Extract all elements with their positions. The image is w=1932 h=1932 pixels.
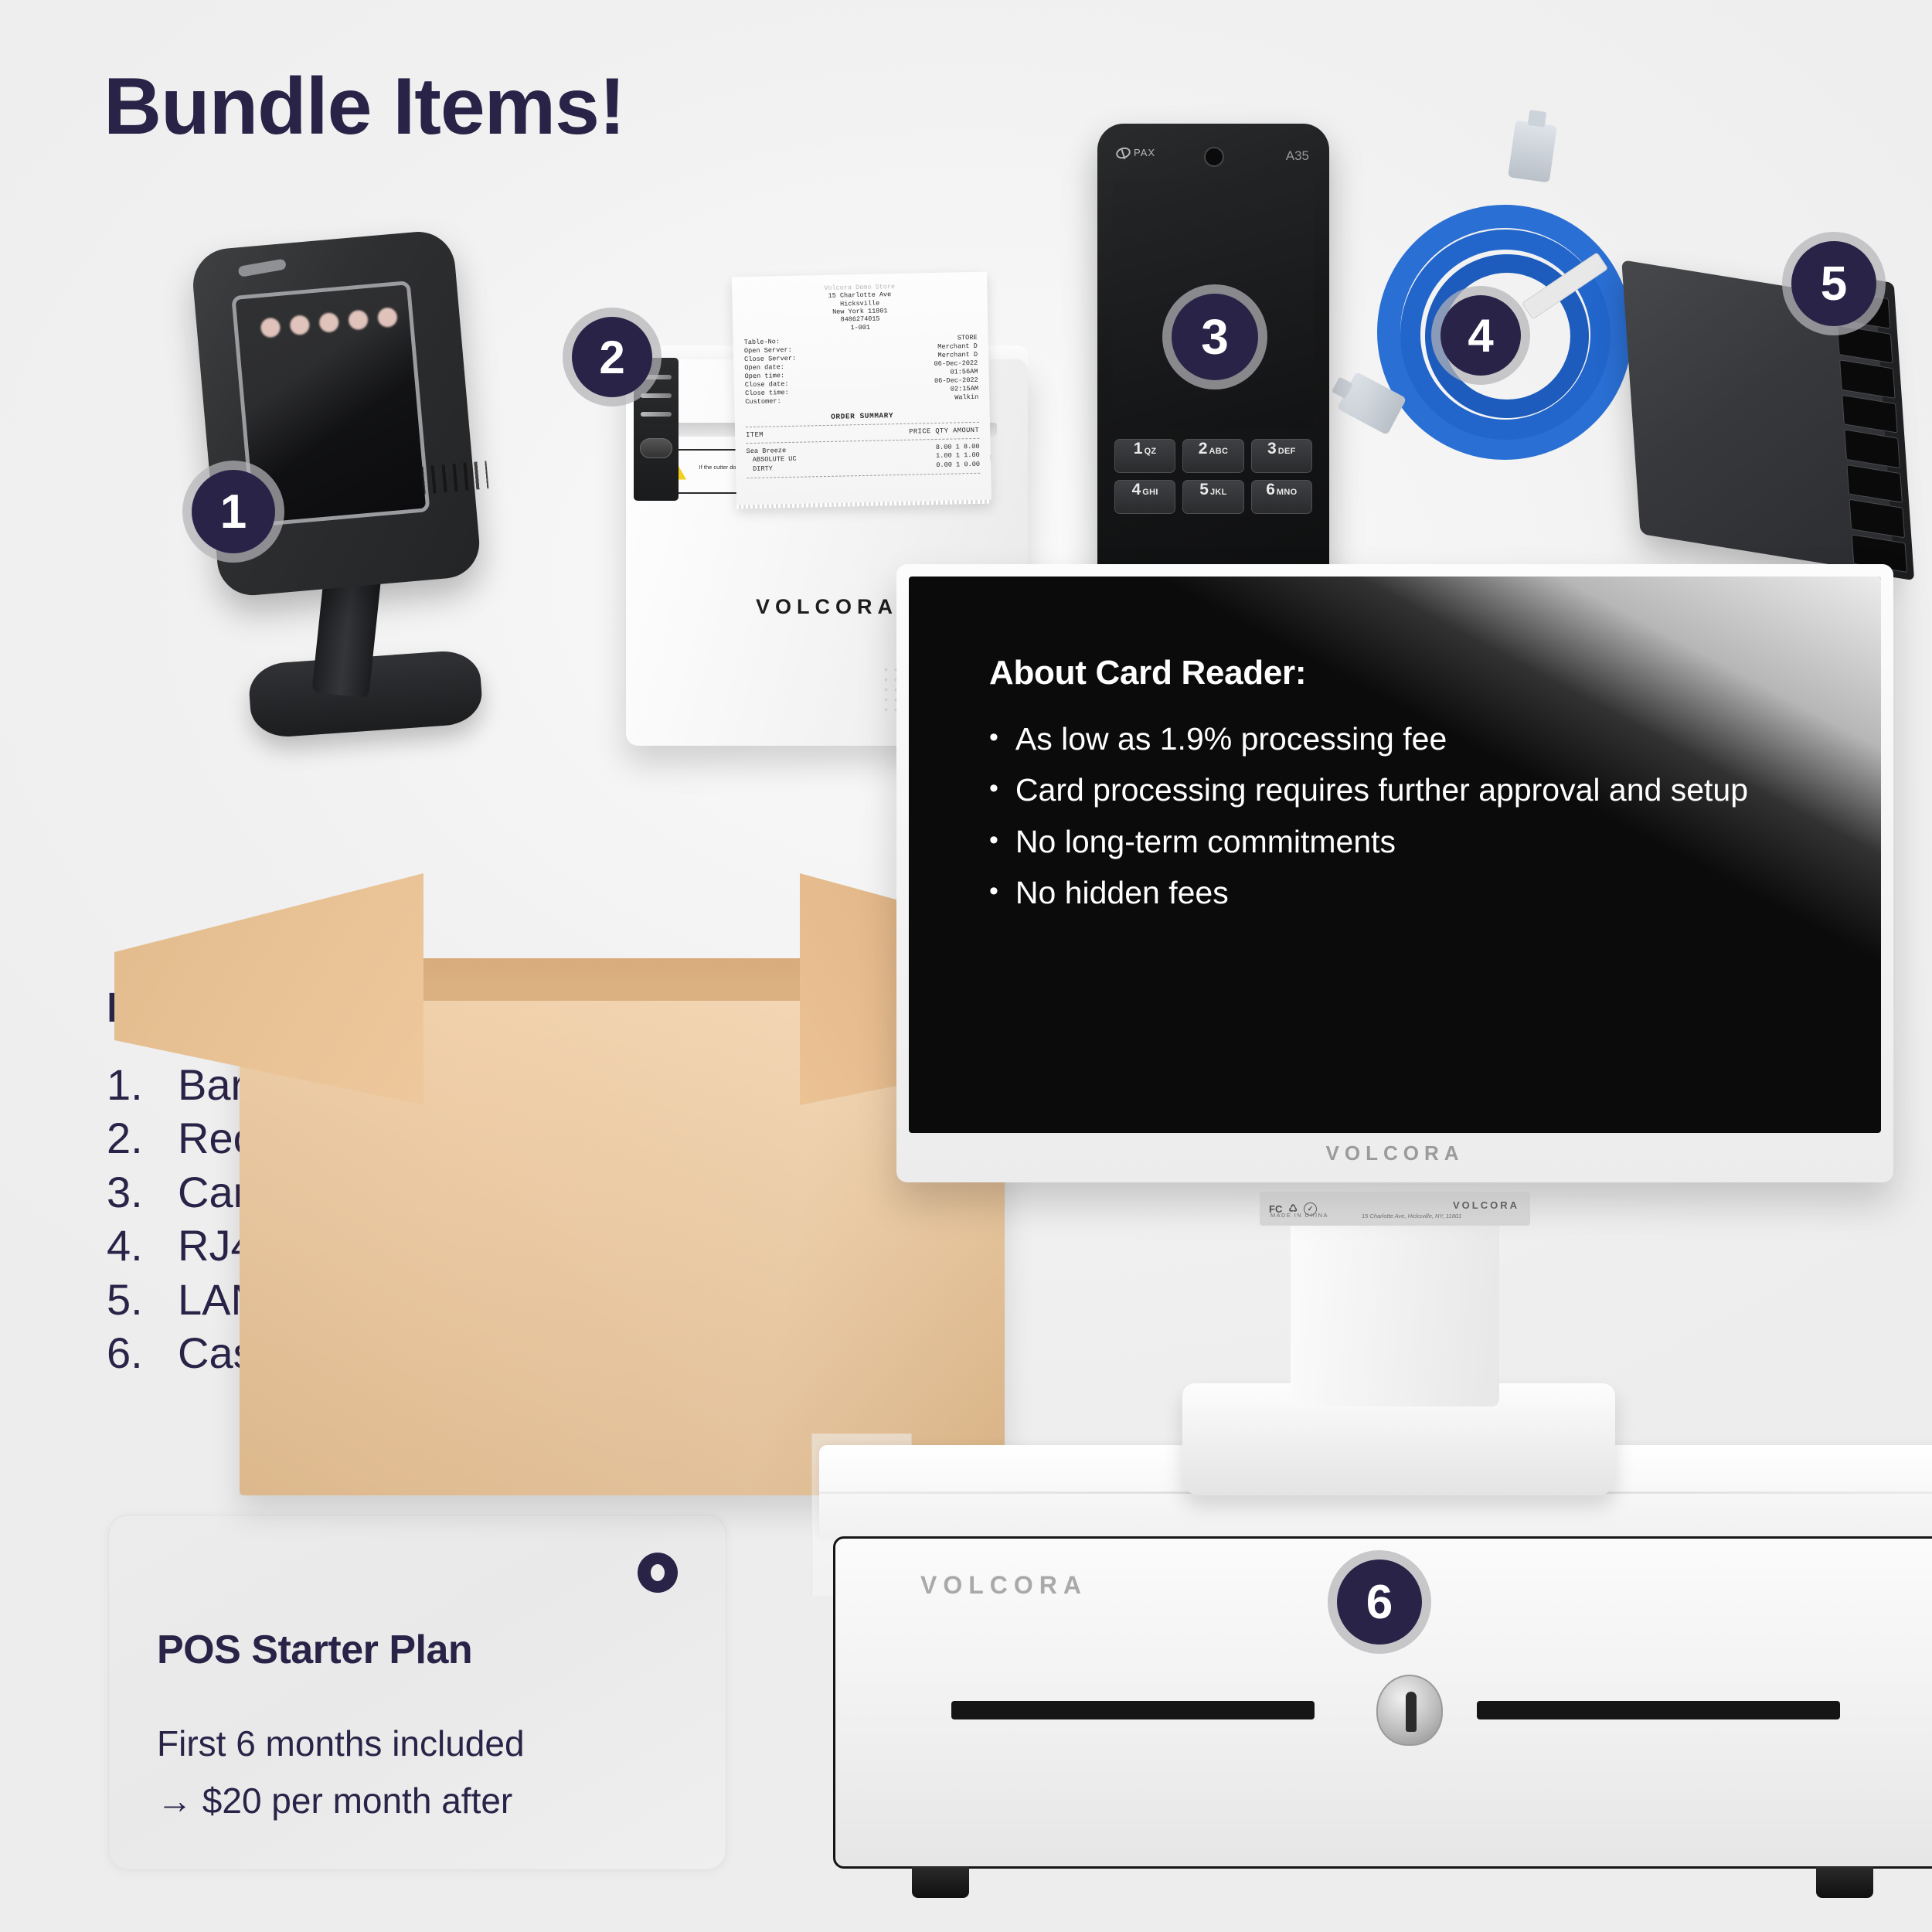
card-reader-camera-icon (1204, 147, 1224, 167)
receipt-field-value: 01:56AM (950, 368, 978, 377)
lan-port (1839, 359, 1896, 398)
company-address-text: 15 Charlotte Ave, Hicksville, NY, 11801 (1362, 1213, 1461, 1219)
rj45-connector (1508, 121, 1557, 183)
pos-starter-plan-card[interactable]: POS Starter Plan First 6 months included… (108, 1515, 726, 1870)
page-title: Bundle Items! (104, 66, 625, 147)
screen-bullet-item: •As low as 1.9% processing fee (989, 719, 1835, 759)
receipt-field-value: 02:15AM (951, 385, 978, 394)
badge-3-card-reader[interactable]: 3 (1172, 294, 1258, 380)
plan-line-1: First 6 months included (157, 1723, 525, 1764)
receipt-field-key: Customer: (745, 397, 781, 406)
pax-wordmark: PAX (1134, 147, 1155, 158)
printer-led-error (641, 393, 672, 398)
keypad-key-6[interactable]: 6MNO (1251, 480, 1312, 514)
receipt-field-value: STORE (957, 334, 978, 343)
plan-title: POS Starter Plan (157, 1627, 472, 1673)
keypad-key-1[interactable]: 1QZ (1114, 439, 1175, 473)
cash-drawer-handle-slot (1477, 1701, 1840, 1719)
printer-feed-button[interactable] (640, 438, 672, 458)
badge-1-barcode-scanner[interactable]: 1 (192, 470, 275, 553)
cash-drawer-foot (912, 1867, 969, 1898)
screen-heading: About Card Reader: (989, 654, 1835, 692)
printed-receipt: Volcora Demo Store 15 Charlotte Ave Hick… (732, 272, 992, 509)
scanner-vents (420, 461, 489, 494)
screen-bullet-item: •No long-term commitments (989, 821, 1835, 862)
lan-port (1846, 464, 1903, 503)
card-reader-keypad[interactable]: 1QZ 2ABC 3DEF 4GHI 5JKL 6MNO (1114, 439, 1312, 514)
screen-content: About Card Reader: •As low as 1.9% proce… (989, 654, 1835, 924)
keypad-key-2[interactable]: 2ABC (1182, 439, 1243, 473)
badge-2-receipt-printer[interactable]: 2 (572, 317, 652, 397)
keypad-key-3[interactable]: 3DEF (1251, 439, 1312, 473)
receipt-table-header: ITEM PRICE QTY AMOUNT (746, 427, 979, 439)
lan-port (1842, 394, 1898, 433)
bullet-dot-icon: • (989, 872, 998, 913)
receipt-field-value: Walkin (954, 393, 978, 403)
cash-drawer: VOLCORA (819, 1445, 1932, 1924)
badge-4-rj45-cable[interactable]: 4 (1440, 295, 1521, 376)
monitor-brand-logo: VOLCORA (896, 1141, 1893, 1165)
screen-bullet-list: •As low as 1.9% processing fee •Card pro… (989, 719, 1835, 913)
keypad-key-5[interactable]: 5JKL (1182, 480, 1243, 514)
badge-5-lan-switch[interactable]: 5 (1791, 241, 1876, 326)
poster-canvas: Bundle Items! Volcora Demo Store 15 Char… (0, 0, 1932, 1932)
keypad-key-4[interactable]: 4GHI (1114, 480, 1175, 514)
bullet-dot-icon: • (989, 770, 998, 810)
label-brand: VOLCORA (1453, 1199, 1519, 1211)
monitor-stand-neck (1291, 1213, 1499, 1406)
receipt-field-key: Close time: (745, 389, 789, 398)
pax-mark-icon (1114, 145, 1131, 160)
printer-led-paper (641, 412, 672, 417)
lan-port (1849, 499, 1906, 538)
screen-bullet-item: •No hidden fees (989, 872, 1835, 913)
receipt-summary-title: ORDER SUMMARY (746, 410, 979, 423)
cash-drawer-foot (1816, 1867, 1873, 1898)
scanner-button (237, 258, 286, 277)
monitor-bezel: About Card Reader: •As low as 1.9% proce… (896, 564, 1893, 1182)
cash-drawer-lock-icon[interactable] (1376, 1675, 1443, 1746)
monitor-screen[interactable]: About Card Reader: •As low as 1.9% proce… (909, 577, 1881, 1133)
cash-drawer-handle-slot (951, 1701, 1315, 1719)
record-dot-icon (638, 1553, 678, 1593)
bullet-dot-icon: • (989, 719, 998, 759)
bullet-dot-icon: • (989, 821, 998, 862)
receipt-col-item: ITEM (746, 431, 764, 439)
receipt-divider (747, 472, 980, 478)
box-left-flap (114, 873, 423, 1105)
card-reader-top-bar: PAX A35 (1097, 138, 1329, 175)
receipt-field-key: Close Server: (744, 355, 796, 364)
badge-6-cash-drawer[interactable]: 6 (1337, 1560, 1422, 1645)
cash-drawer-brand-logo: VOLCORA (920, 1571, 1087, 1600)
monitor-certification-label: FC ♺ ✓ MADE IN CHINA 15 Charlotte Ave, H… (1260, 1192, 1530, 1226)
made-in-text: MADE IN CHINA (1270, 1212, 1328, 1219)
cardboard-box (139, 726, 1005, 1546)
card-reader-model: A35 (1286, 148, 1309, 164)
lan-port (1844, 429, 1900, 468)
plan-line-2: → $20 per month after (157, 1780, 512, 1821)
receipt-col-price-qty-amount: PRICE QTY AMOUNT (909, 427, 979, 436)
screen-bullet-item: •Card processing requires further approv… (989, 770, 1835, 810)
pax-logo-icon: PAX (1116, 147, 1155, 158)
pos-monitor: FC ♺ ✓ MADE IN CHINA 15 Charlotte Ave, H… (896, 564, 1893, 1476)
lan-port (1837, 325, 1893, 363)
